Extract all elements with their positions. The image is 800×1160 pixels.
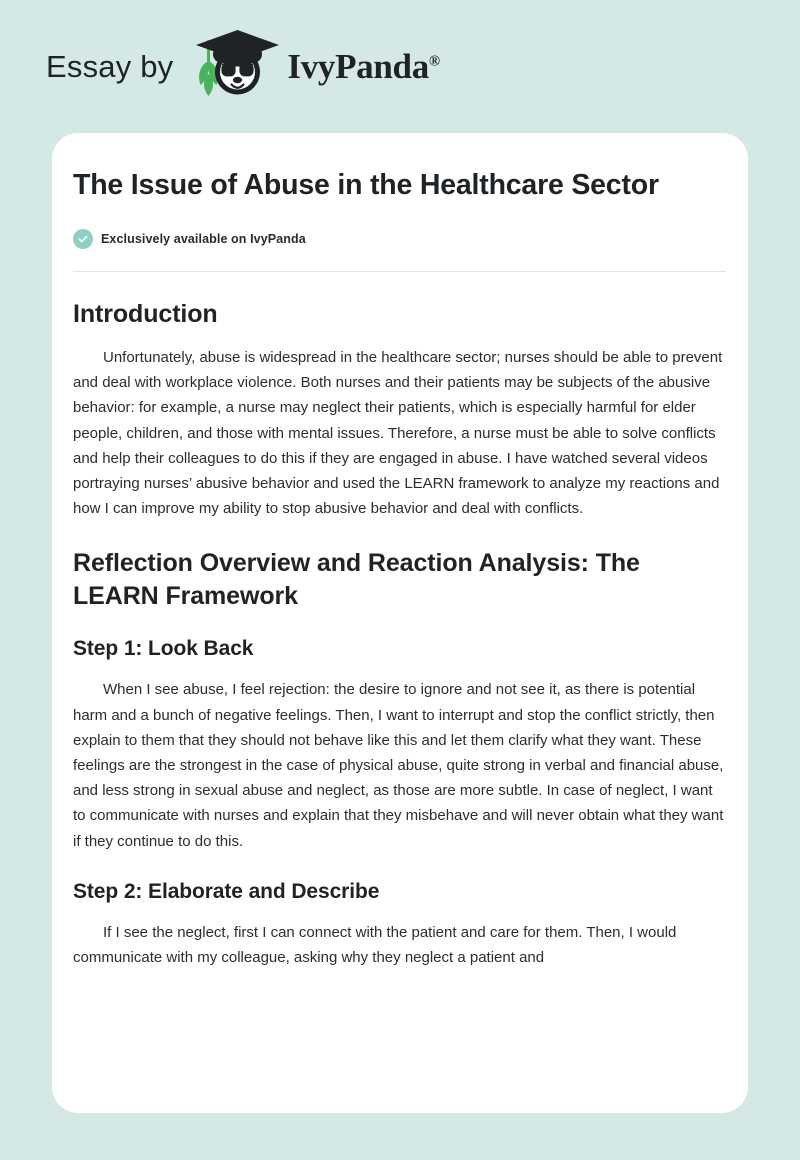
page-header: Essay by [0, 0, 800, 133]
ivypanda-panda-graduate-logo-icon [189, 30, 281, 104]
title-divider [73, 271, 726, 272]
section-heading-step-1: Step 1: Look Back [73, 635, 727, 663]
section-heading-learn-framework: Reflection Overview and Reaction Analysi… [73, 547, 727, 613]
exclusive-availability-label: Exclusively available on IvyPanda [101, 232, 306, 246]
document-body: The Issue of Abuse in the Healthcare Sec… [73, 165, 727, 970]
section-heading-introduction: Introduction [73, 298, 727, 331]
section-heading-step-2: Step 2: Elaborate and Describe [73, 878, 727, 906]
essay-by-label: Essay by [46, 49, 173, 85]
brand-name: IvyPanda [287, 47, 429, 86]
paragraph-introduction-1: Unfortunately, abuse is widespread in th… [73, 345, 727, 521]
registered-trademark-icon: ® [429, 53, 440, 69]
brand-wordmark: IvyPanda® [287, 49, 439, 84]
check-circle-icon [73, 229, 93, 249]
page-title: The Issue of Abuse in the Healthcare Sec… [73, 165, 727, 206]
paragraph-step-2-1: If I see the neglect, first I can connec… [73, 920, 727, 970]
exclusive-availability-badge: Exclusively available on IvyPanda [73, 229, 727, 249]
paragraph-step-1-1: When I see abuse, I feel rejection: the … [73, 677, 727, 853]
brand-lockup: Essay by [46, 30, 440, 104]
document-card: The Issue of Abuse in the Healthcare Sec… [52, 133, 748, 1113]
